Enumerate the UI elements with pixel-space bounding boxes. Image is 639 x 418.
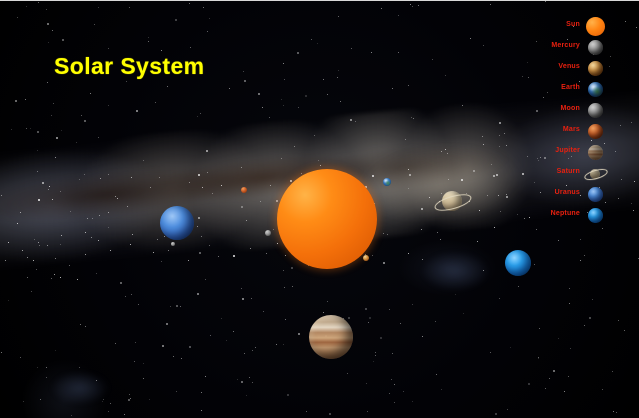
- scene-body-earth: [383, 178, 391, 186]
- legend-item-earth[interactable]: Earth: [528, 80, 634, 100]
- jupiter-icon: [588, 145, 603, 160]
- scene-body-mars: [241, 187, 247, 193]
- legend-label-saturn: Saturn: [528, 167, 580, 176]
- mars-icon: [588, 124, 603, 139]
- uranus-icon: [588, 187, 603, 202]
- legend-item-mars[interactable]: Mars: [528, 122, 634, 142]
- earth-icon: [588, 82, 603, 97]
- neptune-icon: [588, 208, 603, 223]
- legend-item-sun[interactable]: Sun: [528, 17, 634, 37]
- page-title: Solar System: [54, 53, 205, 80]
- saturn-ring: [583, 167, 609, 182]
- legend-label-jupiter: Jupiter: [528, 146, 580, 155]
- legend-label-uranus: Uranus: [528, 188, 580, 197]
- legend-item-mercury[interactable]: Mercury: [528, 38, 634, 58]
- solar-system-scene: Solar System Sun Mercury Venus Earth Mo: [0, 0, 639, 418]
- legend-item-moon[interactable]: Moon: [528, 101, 634, 121]
- venus-icon: [588, 61, 603, 76]
- saturn-icon: [580, 164, 610, 182]
- moon-icon: [588, 103, 603, 118]
- legend-item-neptune[interactable]: Neptune: [528, 206, 634, 226]
- sun-icon: [586, 17, 605, 36]
- legend-label-moon: Moon: [528, 104, 580, 113]
- legend-label-venus: Venus: [528, 62, 580, 71]
- legend-item-saturn[interactable]: Saturn: [528, 164, 634, 184]
- scene-body-moon: [171, 242, 175, 246]
- legend-label-mercury: Mercury: [528, 41, 580, 50]
- scene-body-venus: [363, 255, 369, 261]
- legend-item-uranus[interactable]: Uranus: [528, 185, 634, 205]
- legend-label-mars: Mars: [528, 125, 580, 134]
- mercury-icon: [588, 40, 603, 55]
- legend-label-neptune: Neptune: [528, 209, 580, 218]
- scene-body-mercury: [265, 230, 271, 236]
- legend-item-jupiter[interactable]: Jupiter: [528, 143, 634, 163]
- scene-body-neptune: [505, 250, 531, 276]
- planet-legend: Sun Mercury Venus Earth Moon Mars Jupite…: [528, 13, 634, 231]
- legend-item-venus[interactable]: Venus: [528, 59, 634, 79]
- legend-label-earth: Earth: [528, 83, 580, 92]
- scene-body-uranus: [160, 206, 194, 240]
- scene-body-sun: [277, 169, 377, 269]
- scene-body-jupiter: [309, 315, 353, 359]
- legend-label-sun: Sun: [528, 20, 580, 29]
